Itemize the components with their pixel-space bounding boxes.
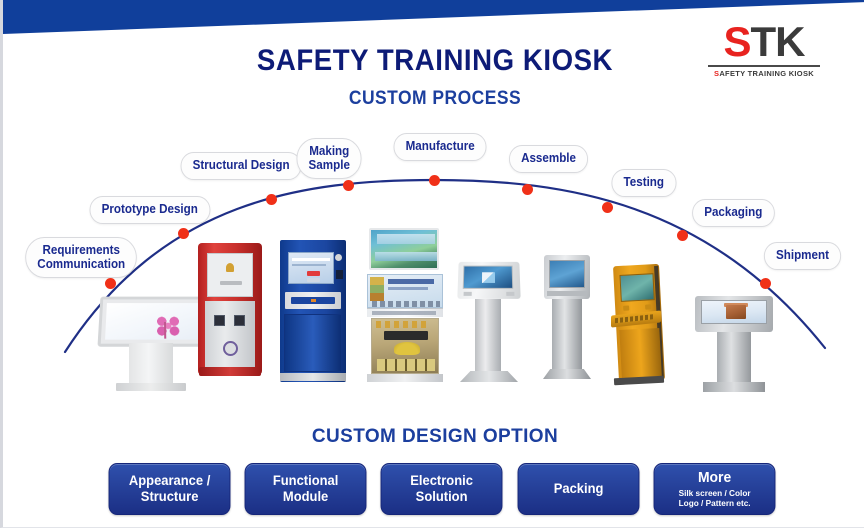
kiosk-knob xyxy=(335,254,342,261)
process-step-label-5[interactable]: Manufacture xyxy=(394,133,487,161)
kiosk-tray xyxy=(285,292,341,309)
kiosk-top-display xyxy=(369,228,439,270)
process-step-dot-1 xyxy=(105,278,116,289)
kiosk-panel xyxy=(205,301,255,367)
logo-divider xyxy=(708,65,820,67)
kiosk-lower-panel xyxy=(284,314,342,372)
kiosk-glass xyxy=(105,303,201,340)
kiosk-control-right xyxy=(645,304,651,309)
kiosk-base xyxy=(543,369,591,379)
cabinet-display xyxy=(384,331,428,340)
kiosk-white-angled-table xyxy=(99,295,207,395)
process-step-label-7[interactable]: Testing xyxy=(611,169,676,197)
kiosk-brand-band xyxy=(367,308,443,317)
kiosk-blue-cabinet xyxy=(280,240,346,385)
kiosk-silver-slim xyxy=(544,255,590,383)
kiosk-column xyxy=(129,343,173,385)
logo-tagline: SAFETY TRAINING KIOSK xyxy=(708,69,820,78)
process-step-label-1[interactable]: Requirements Communication xyxy=(25,237,137,278)
display-icon-row xyxy=(372,301,440,307)
process-step-label-6[interactable]: Assemble xyxy=(509,145,588,173)
logo-letters-tk: TK xyxy=(751,18,805,65)
design-option-button-1[interactable]: Appearance / Structure xyxy=(109,463,231,515)
kiosk-screen xyxy=(288,252,334,284)
kiosk-control-left xyxy=(623,305,629,310)
brand-band-text xyxy=(372,311,436,315)
kiosk-base xyxy=(614,376,664,386)
kiosk-head xyxy=(457,262,520,299)
screen-headerbar xyxy=(292,258,330,261)
screen-textline xyxy=(292,264,326,266)
kiosk-tabletop xyxy=(695,296,773,332)
bell-icon xyxy=(226,263,234,272)
kiosk-screen xyxy=(463,266,514,289)
process-step-label-8[interactable]: Packaging xyxy=(692,199,774,227)
design-option-sublabel: Silk screen / Color Logo / Pattern etc. xyxy=(678,488,750,509)
process-step-dot-4 xyxy=(343,180,354,191)
badge-row xyxy=(376,321,426,328)
kiosk-orange-keyboard xyxy=(616,265,668,390)
kiosk-base xyxy=(703,382,765,392)
design-option-label: Functional Module xyxy=(273,473,339,505)
kiosk-lip xyxy=(547,291,587,296)
scenery-sky xyxy=(377,234,435,244)
kiosk-button-right xyxy=(506,292,514,296)
logo-letter-s: S xyxy=(723,18,750,65)
design-option-button-5[interactable]: MoreSilk screen / Color Logo / Pattern e… xyxy=(653,463,775,515)
process-step-dot-3 xyxy=(266,194,277,205)
design-option-label: More xyxy=(698,470,731,487)
hard-hat-prop xyxy=(394,342,420,355)
tray-indicator xyxy=(311,299,316,302)
display-subtitle-bar xyxy=(388,287,428,290)
process-step-label-9[interactable]: Shipment xyxy=(764,242,841,270)
process-step-dot-9 xyxy=(760,278,771,289)
kiosk-screen xyxy=(97,297,208,347)
kiosk-body xyxy=(280,240,346,382)
screen-logo xyxy=(482,272,495,283)
kiosk-screen xyxy=(619,273,654,302)
flower-stem xyxy=(164,322,166,339)
process-step-label-3[interactable]: Structural Design xyxy=(181,152,302,180)
scenery-water xyxy=(375,252,437,261)
kiosk-main-display xyxy=(367,274,443,308)
kiosk-frame xyxy=(198,243,262,375)
kiosk-dual-screen-safety-training xyxy=(367,228,445,386)
display-title-bar xyxy=(388,279,434,284)
logo-wordmark: STK xyxy=(708,22,820,62)
kiosk-screen xyxy=(701,300,767,324)
display-thumbnails xyxy=(370,277,384,301)
kiosk-demo-cabinet xyxy=(371,318,439,374)
kiosk-reader xyxy=(336,270,343,279)
kiosk-red-frame-upright xyxy=(198,243,262,383)
design-option-label: Electronic Solution xyxy=(411,473,474,505)
kiosk-base xyxy=(367,374,443,382)
kiosk-lower-panel xyxy=(619,328,661,378)
flower-graphic xyxy=(155,314,182,339)
kiosk-stem xyxy=(552,299,582,371)
design-option-button-3[interactable]: Electronic Solution xyxy=(381,463,503,515)
kiosk-screen xyxy=(549,260,585,288)
design-option-label: Packing xyxy=(553,481,603,497)
process-step-label-4[interactable]: Making Sample xyxy=(296,138,362,179)
box-graphic xyxy=(726,305,746,319)
process-step-dot-6 xyxy=(522,184,533,195)
stk-logo: STK SAFETY TRAINING KIOSK xyxy=(708,22,820,78)
page-subtitle: CUSTOM PROCESS xyxy=(38,88,833,110)
cabinet-grid xyxy=(377,359,435,371)
process-step-dot-7 xyxy=(602,202,613,213)
port-right xyxy=(234,315,245,326)
kiosk-button-left xyxy=(464,292,472,296)
dial-icon xyxy=(223,341,238,356)
card-slot xyxy=(220,281,242,285)
process-step-label-2[interactable]: Prototype Design xyxy=(90,196,210,224)
design-option-button-4[interactable]: Packing xyxy=(517,463,639,515)
screen-button-primary xyxy=(307,271,320,276)
kiosk-stem xyxy=(475,299,501,373)
process-step-dot-5 xyxy=(429,175,440,186)
kiosk-silver-angled xyxy=(458,261,520,386)
custom-design-option-buttons: Appearance / StructureFunctional ModuleE… xyxy=(106,463,778,515)
custom-design-option-title: CUSTOM DESIGN OPTION xyxy=(3,426,864,448)
screen-button-secondary xyxy=(307,278,320,282)
kiosk-screen xyxy=(207,253,253,297)
logo-tagline-rest: AFETY TRAINING KIOSK xyxy=(719,69,814,78)
kiosk-base xyxy=(199,367,261,376)
kiosk-column xyxy=(717,332,751,382)
design-option-label: Appearance / Structure xyxy=(129,473,210,505)
kiosk-grey-table-touch xyxy=(695,296,773,396)
port-left xyxy=(214,315,225,326)
kiosk-process-infographic: SAFETY TRAINING KIOSK CUSTOM PROCESS STK… xyxy=(0,0,864,528)
kiosk-base xyxy=(460,371,518,382)
kiosk-base xyxy=(116,383,186,391)
process-step-dot-8 xyxy=(677,230,688,241)
design-option-button-2[interactable]: Functional Module xyxy=(245,463,367,515)
process-step-dot-2 xyxy=(178,228,189,239)
keyboard-keys xyxy=(615,314,653,323)
kiosk-base xyxy=(280,373,346,381)
